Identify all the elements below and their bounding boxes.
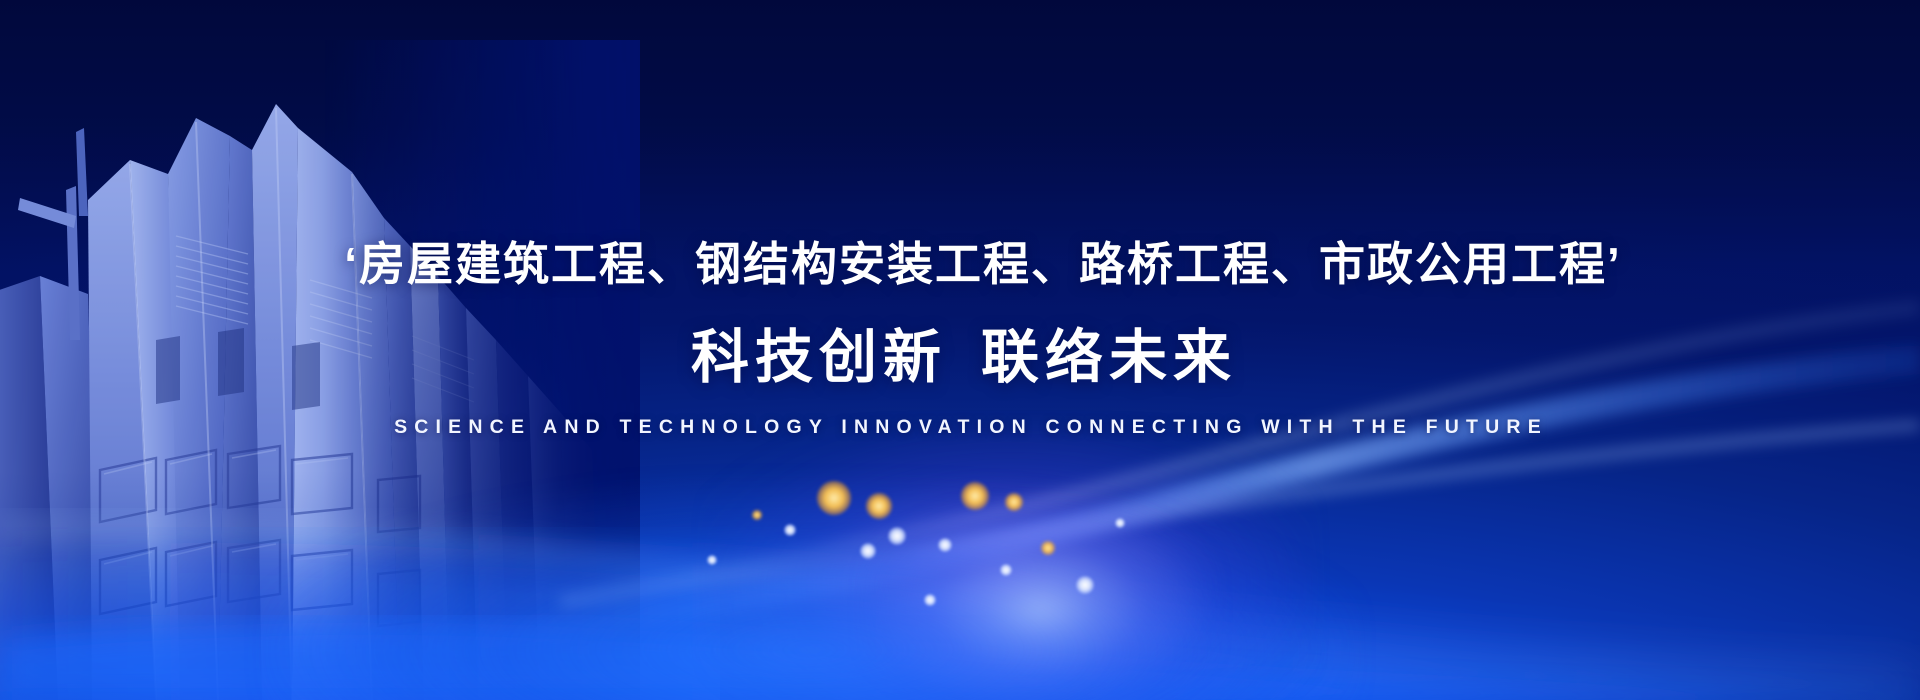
headline-quote: ‘房屋建筑工程、钢结构安装工程、路桥工程、市政公用工程’ — [0, 236, 1920, 292]
hero-banner: ‘房屋建筑工程、钢结构安装工程、路桥工程、市政公用工程’ 科技创新联络未来 SC… — [0, 0, 1920, 700]
subtitle-english: SCIENCE AND TECHNOLOGY INNOVATION CONNEC… — [0, 416, 1920, 439]
headline-main-part2: 联络未来 — [981, 325, 1237, 390]
banner-text-block: ‘房屋建筑工程、钢结构安装工程、路桥工程、市政公用工程’ 科技创新联络未来 SC… — [0, 236, 1920, 439]
headline-main: 科技创新联络未来 — [0, 326, 1920, 390]
headline-main-part1: 科技创新 — [691, 325, 947, 390]
